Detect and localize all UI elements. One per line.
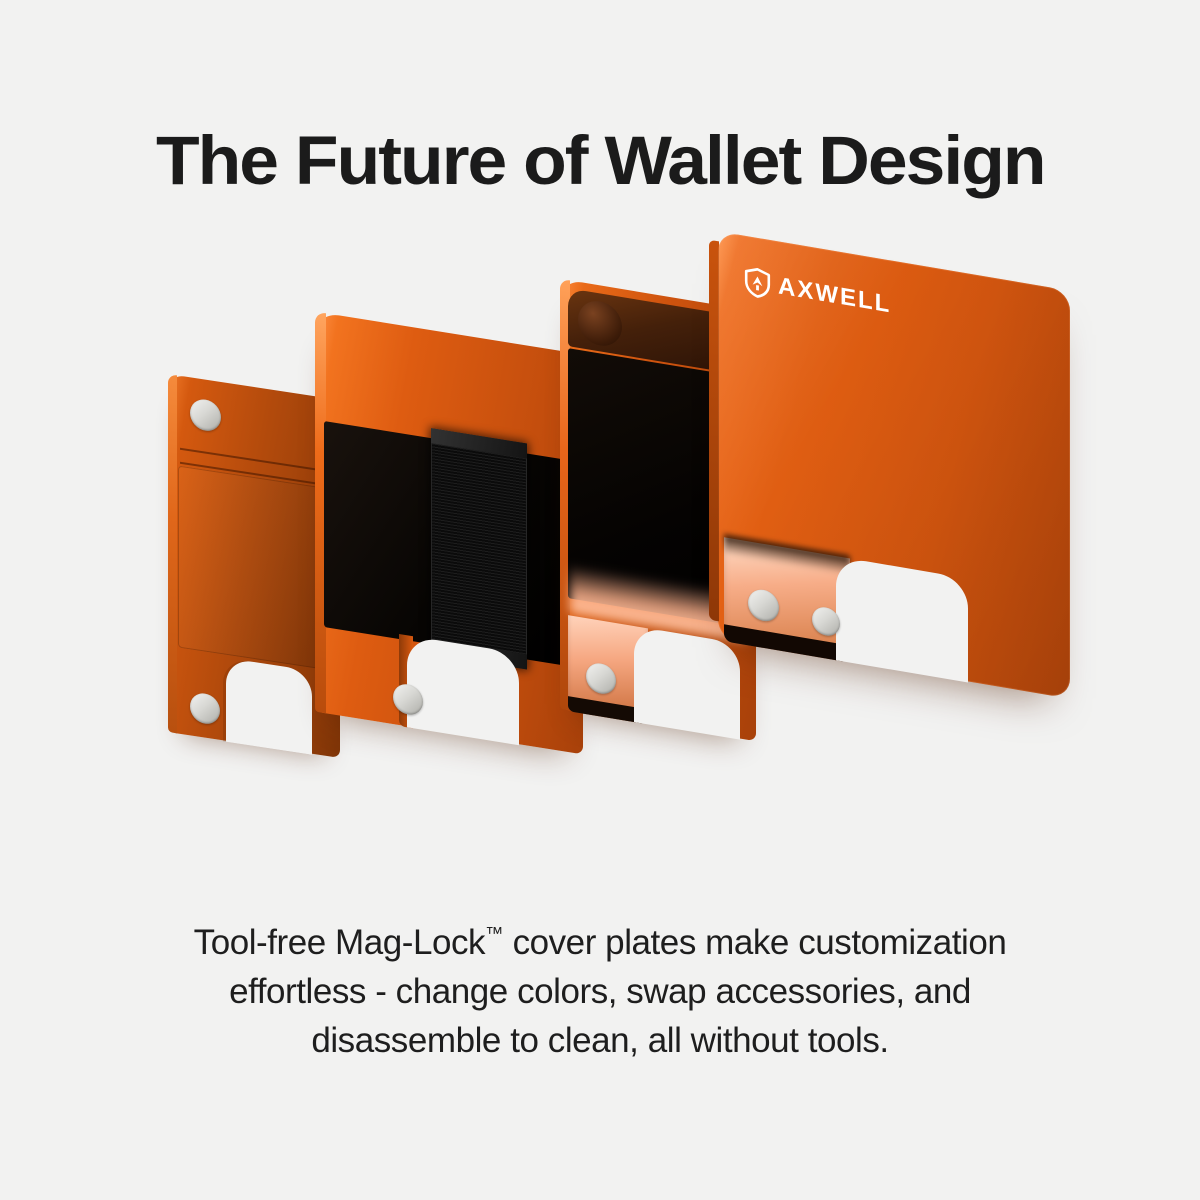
plate-face-panel (178, 466, 330, 671)
caption-line-2: effortless - change colors, swap accesso… (0, 967, 1200, 1016)
thumb-cutout-notch (634, 626, 740, 740)
wallet-layer-cardholder (315, 312, 583, 755)
page-title: The Future of Wallet Design (156, 126, 1045, 195)
shield-chevron-icon (744, 266, 771, 301)
elastic-strap (431, 428, 527, 669)
plate-edge-highlight (168, 374, 177, 733)
product-marketing-poster: The Future of Wallet Design (0, 0, 1200, 1200)
trademark-symbol: ™ (485, 923, 503, 943)
caption-line-1-text: Tool-free Mag-Lock (194, 923, 485, 962)
product-exploded-view: AXWELL (0, 247, 1200, 867)
caption-line-1: Tool-free Mag-Lock™ cover plates make cu… (0, 918, 1200, 967)
magnet-post (578, 298, 622, 349)
product-description: Tool-free Mag-Lock™ cover plates make cu… (0, 918, 1200, 1065)
caption-line-1-tail: cover plates make customization (503, 923, 1006, 962)
caption-line-3: disassemble to clean, all without tools. (0, 1016, 1200, 1065)
magnet-pin (190, 397, 221, 433)
magnet-pin (190, 691, 220, 726)
thumb-cutout-notch (226, 658, 312, 755)
wallet-layer-front-cover: AXWELL (718, 231, 1070, 699)
strap-seam-top (431, 428, 527, 458)
